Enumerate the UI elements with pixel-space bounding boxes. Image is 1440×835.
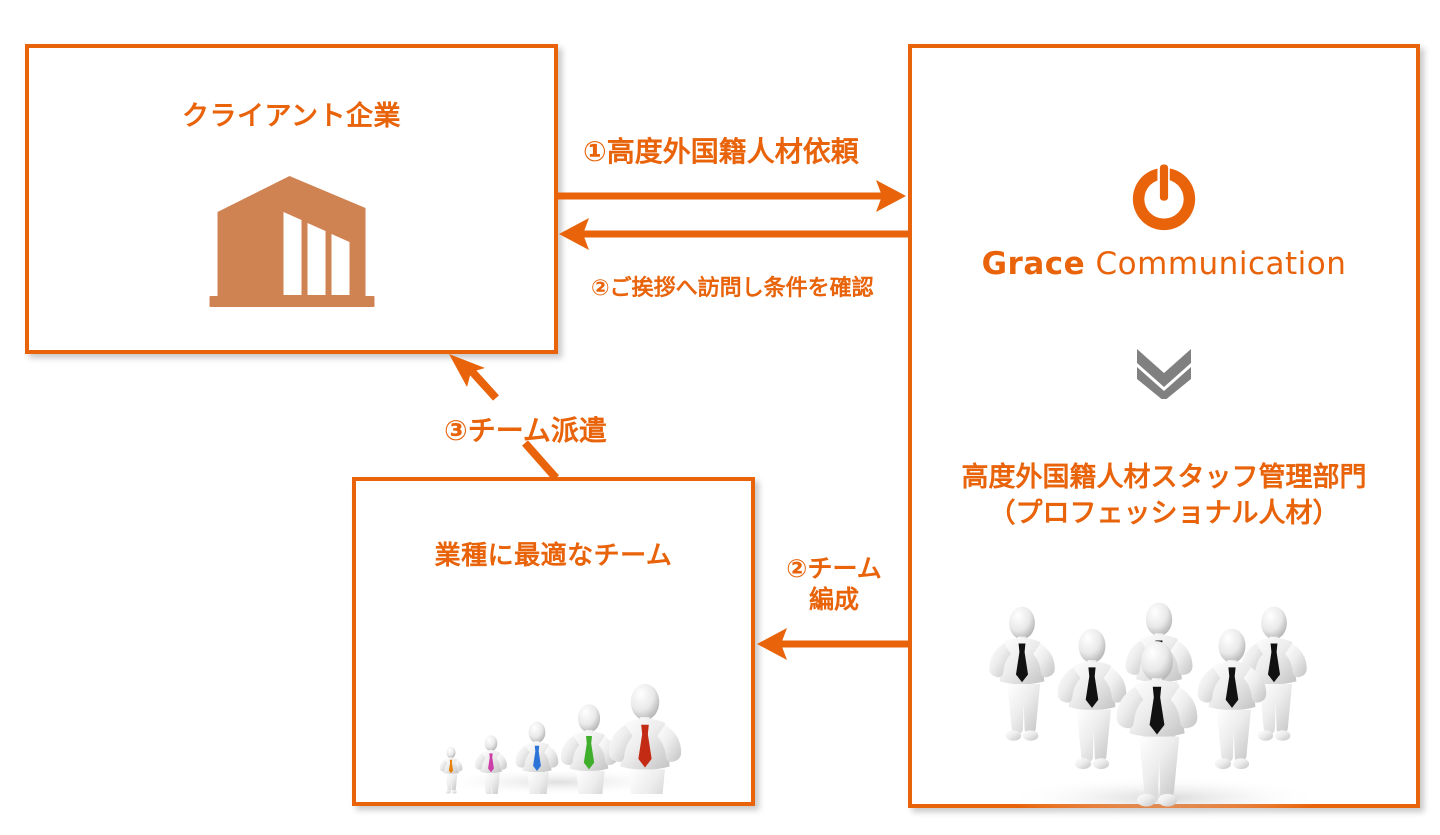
arrow-2-shape [559, 218, 908, 250]
office-building-icon [209, 168, 374, 318]
client-company-box: クライアント企業 [25, 44, 558, 354]
client-box-title: クライアント企業 [29, 94, 554, 133]
arrow-4-label-line1: ②チーム [774, 554, 894, 585]
grace-communication-box: Grace Communication 高度外国籍人材スタッフ管理部門 （プロフ… [908, 44, 1420, 808]
team-box-title: 業種に最適なチーム [356, 535, 751, 572]
arrow-1-shape [558, 180, 906, 212]
grace-word-light: Communication [1096, 246, 1347, 282]
arrow-3-label: ③チーム派遣 [444, 409, 607, 449]
arrow-4-label: ②チーム 編成 [774, 554, 894, 617]
divider-chevron [912, 343, 1416, 404]
optimal-team-box: 業種に最適なチーム [352, 477, 755, 806]
arrow-1-label: ①高度外国籍人材依頼 [583, 130, 859, 170]
grace-word-bold: Grace [982, 246, 1086, 282]
diagram-canvas: クライアント企業 Grace Communication [0, 0, 1440, 835]
double-chevron-down-icon [1131, 343, 1197, 399]
department-caption-line1: 高度外国籍人材スタッフ管理部門 [912, 460, 1416, 496]
team-people-illustration [419, 604, 689, 794]
staff-people-illustration [964, 548, 1364, 823]
arrow-4-shape [757, 628, 908, 660]
department-caption: 高度外国籍人材スタッフ管理部門 （プロフェッショナル人材） [912, 460, 1416, 531]
grace-logo: Grace Communication [912, 158, 1416, 282]
grace-wordmark: Grace Communication [912, 246, 1416, 282]
arrow-4-label-line2: 編成 [774, 585, 894, 616]
arrow-2-label: ②ご挨拶へ訪問し条件を確認 [591, 270, 874, 302]
department-caption-line2: （プロフェッショナル人材） [912, 496, 1416, 532]
power-button-icon [1123, 158, 1205, 240]
